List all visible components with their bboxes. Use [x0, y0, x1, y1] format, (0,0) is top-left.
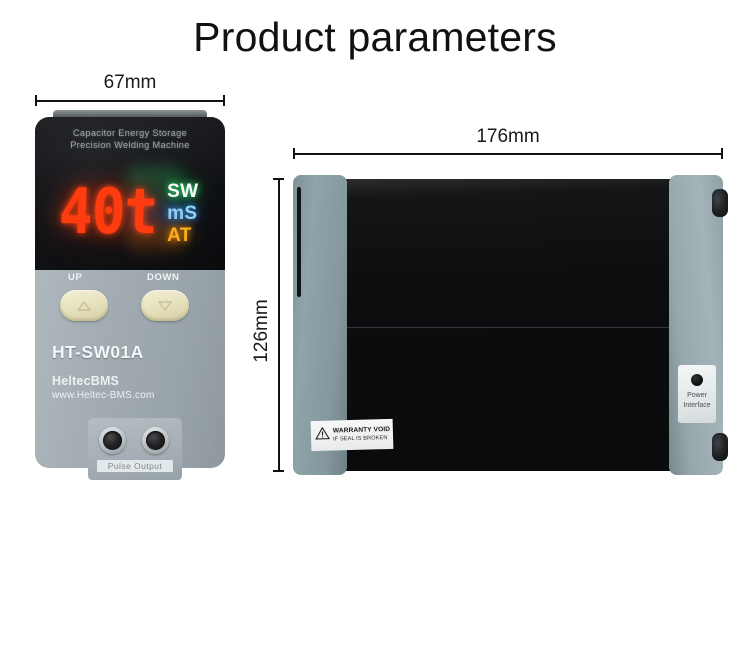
- pulse-output-panel: Pulse Output: [88, 418, 182, 480]
- end-cap-slot: [297, 187, 301, 297]
- power-port-icon[interactable]: [691, 374, 703, 386]
- dimension-line: [278, 178, 280, 472]
- dimension-line: [35, 100, 225, 102]
- down-button[interactable]: [141, 290, 189, 321]
- warranty-text: WARRANTY VOID IF SEAL IS BROKEN: [333, 425, 391, 445]
- warranty-line-2: IF SEAL IS BROKEN: [333, 434, 390, 445]
- dimension-cap-top: [273, 178, 284, 180]
- device-caption: Capacitor Energy Storage Precision Weldi…: [35, 128, 225, 151]
- power-label-line-2: Interface: [678, 401, 716, 411]
- chassis-seam-line: [321, 327, 695, 328]
- pulse-output-label: Pulse Output: [97, 460, 173, 472]
- device-body-panel: UP DOWN HT-SW01A HeltecBMS www.Heltec-BM…: [35, 270, 225, 468]
- dimension-cap-right: [721, 148, 723, 159]
- led-mode-at: AT: [167, 225, 192, 246]
- brand-website: www.Heltec-BMS.com: [52, 390, 155, 401]
- warranty-void-sticker: WARRANTY VOID IF SEAL IS BROKEN: [311, 419, 394, 451]
- button-labels: UP DOWN: [35, 272, 225, 286]
- dimension-cap-left: [293, 148, 295, 159]
- right-end-cap: Power Interface: [669, 175, 723, 475]
- caption-line-1: Capacitor Energy Storage: [35, 128, 225, 140]
- dimension-label-side-height: 126mm: [251, 291, 273, 371]
- power-label-line-1: Power: [678, 391, 716, 401]
- end-cap-bump-top: [712, 189, 728, 217]
- dimension-bar-side-width: [293, 148, 723, 159]
- pulse-output-jack-left[interactable]: [99, 427, 126, 454]
- dimension-bar-front-width: [35, 95, 225, 106]
- down-button-label: DOWN: [147, 272, 179, 283]
- dimension-cap-right: [223, 95, 225, 106]
- dimension-label-front-width: 67mm: [35, 72, 225, 94]
- dimension-label-side-width: 176mm: [293, 126, 723, 148]
- pulse-output-jack-right[interactable]: [142, 427, 169, 454]
- display-bezel: Capacitor Energy Storage Precision Weldi…: [35, 117, 225, 273]
- power-interface-label: Power Interface: [678, 391, 716, 410]
- page-title: Product parameters: [0, 14, 750, 61]
- end-cap-bump-bottom: [712, 433, 728, 461]
- warning-triangle-icon: [315, 427, 330, 445]
- led-display: 40t SW mS AT: [57, 175, 207, 251]
- dimension-cap-bottom: [273, 470, 284, 472]
- caption-line-2: Precision Welding Machine: [35, 140, 225, 152]
- led-mode-ms: mS: [167, 203, 197, 224]
- led-mode-sw: SW: [167, 181, 198, 202]
- brand-name: HeltecBMS: [52, 374, 119, 388]
- up-button[interactable]: [60, 290, 108, 321]
- power-interface-panel: Power Interface: [678, 365, 716, 423]
- led-value: 40t: [58, 182, 158, 245]
- dimension-bar-side-height: [273, 178, 284, 472]
- up-button-label: UP: [68, 272, 82, 283]
- led-mode-indicators: SW mS AT: [167, 181, 198, 246]
- model-number: HT-SW01A: [52, 342, 144, 363]
- side-view-device: Power Interface WARRANTY VOID IF SEAL IS…: [293, 175, 723, 475]
- dimension-cap-left: [35, 95, 37, 106]
- front-view-device: Capacitor Energy Storage Precision Weldi…: [35, 110, 225, 485]
- dimension-line: [293, 153, 723, 155]
